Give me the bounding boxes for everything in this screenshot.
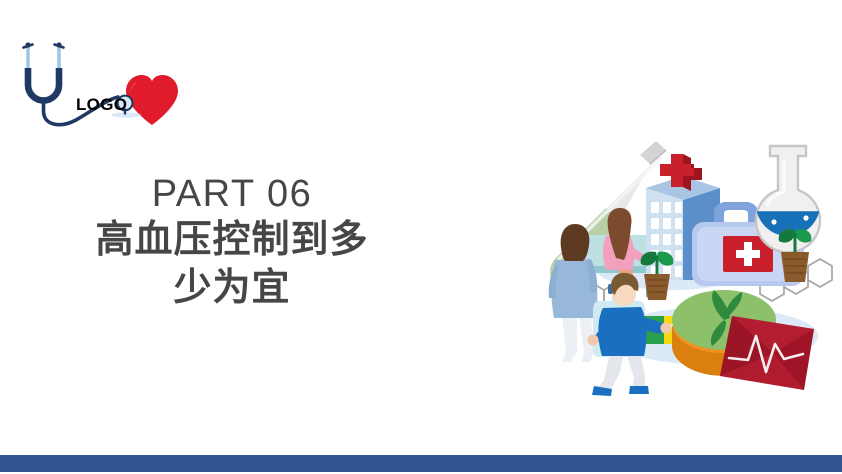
page-title-line1: 高血压控制到多 bbox=[22, 217, 442, 265]
potted-plant-icon-center bbox=[641, 252, 674, 300]
illustration-svg bbox=[498, 140, 842, 402]
slide-canvas: LOGO PART 06 高血压控制到多 少为宜 bbox=[0, 0, 842, 474]
logo-graphic bbox=[14, 34, 199, 134]
logo-block[interactable]: LOGO bbox=[14, 34, 199, 134]
logo-text: LOGO bbox=[76, 96, 127, 113]
page-title-line2: 少为宜 bbox=[22, 265, 442, 313]
ecg-card-icon bbox=[720, 316, 814, 390]
illustration-medical-scene bbox=[498, 140, 842, 402]
title-block: PART 06 高血压控制到多 少为宜 bbox=[22, 172, 442, 313]
part-label: PART 06 bbox=[22, 172, 442, 217]
heart-icon bbox=[126, 75, 178, 125]
footer-bar bbox=[0, 455, 842, 472]
